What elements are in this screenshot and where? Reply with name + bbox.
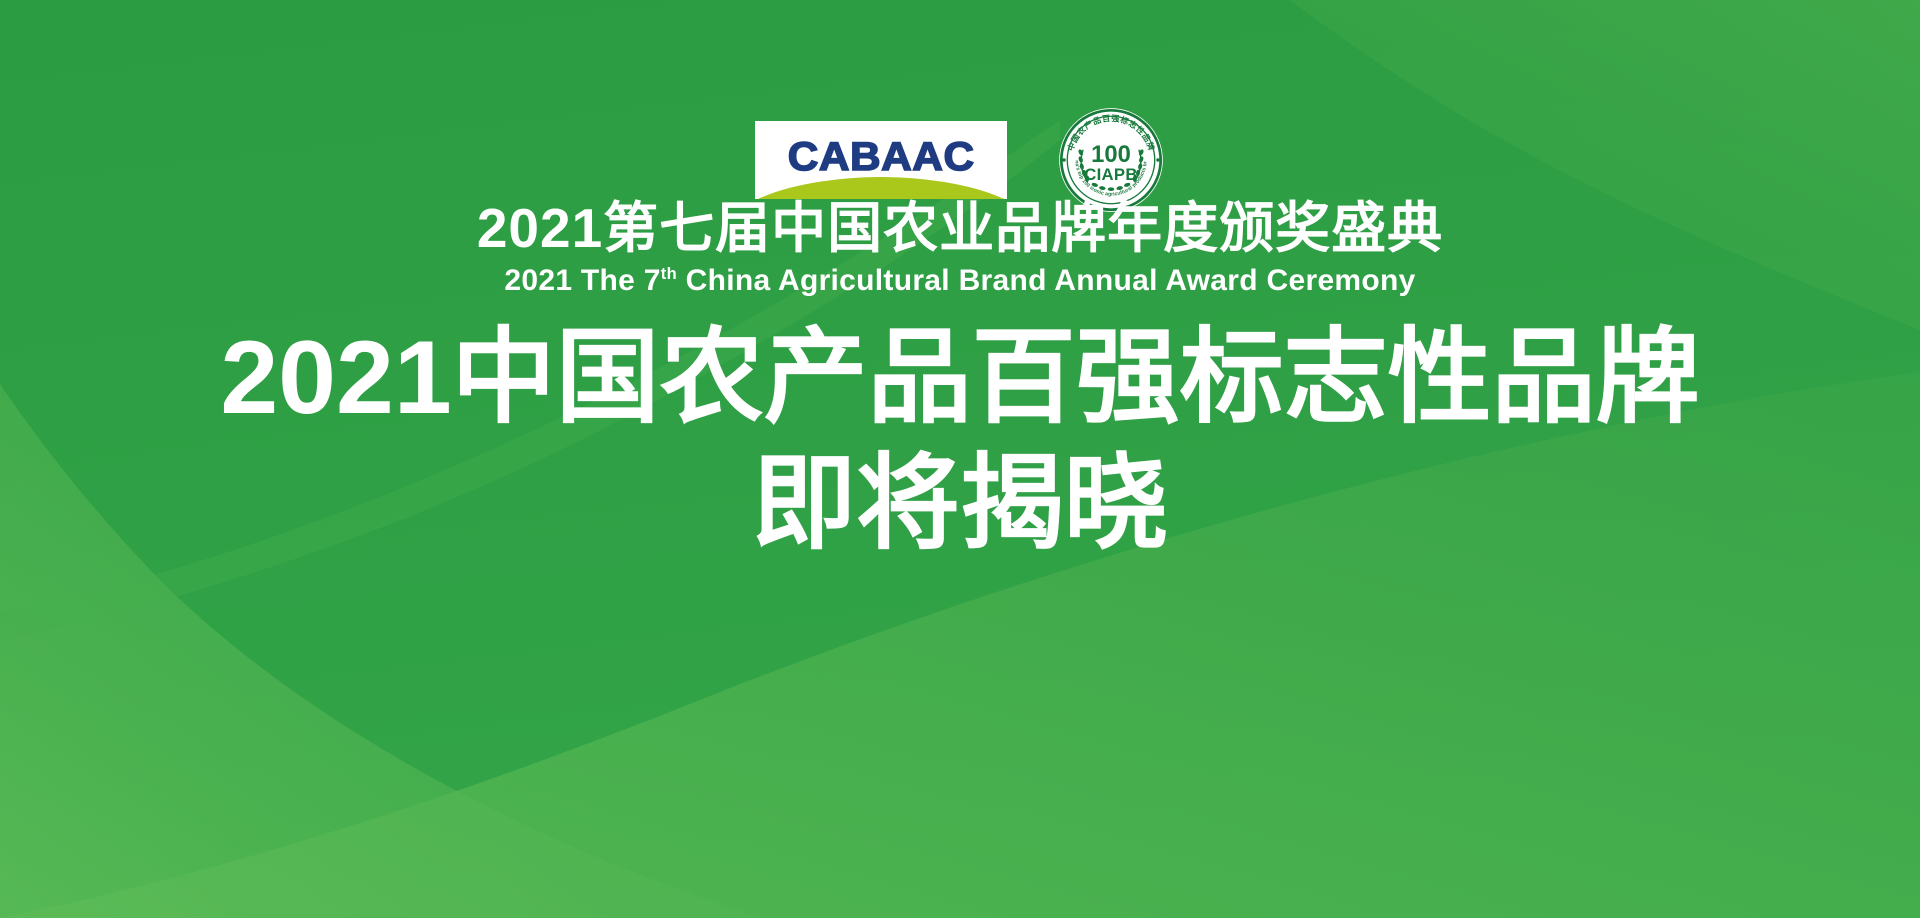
event-title-en-suffix: China Agricultural Brand Annual Award Ce… [677, 264, 1416, 297]
headline-block: 2021中国农产品百强标志性品牌 即将揭晓 [0, 322, 1920, 561]
event-title-en: 2021 The 7th China Agricultural Brand An… [0, 262, 1920, 300]
headline-line-2: 即将揭晓 [0, 448, 1920, 560]
headline-line-1: 2021中国农产品百强标志性品牌 [0, 322, 1920, 434]
event-title-block: 2021第七届中国农业品牌年度颁奖盛典 2021 The 7th China A… [0, 198, 1920, 299]
poster-root: CABAAC 中国农产品百强标志性品牌 [0, 0, 1920, 918]
poster-content: CABAAC 中国农产品百强标志性品牌 [0, 0, 1920, 918]
cabaac-logo: CABAAC [755, 121, 1007, 199]
seal-center-number: 100 [1091, 141, 1131, 168]
event-title-en-ordinal: th [661, 265, 677, 283]
seal-center-abbr: CIAPB [1084, 165, 1137, 184]
event-title-cn: 2021第七届中国农业品牌年度颁奖盛典 [0, 198, 1920, 260]
cabaac-arc-shape [755, 177, 1007, 199]
event-title-en-prefix: 2021 The 7 [504, 264, 660, 297]
cabaac-wordmark: CABAAC [788, 137, 975, 177]
